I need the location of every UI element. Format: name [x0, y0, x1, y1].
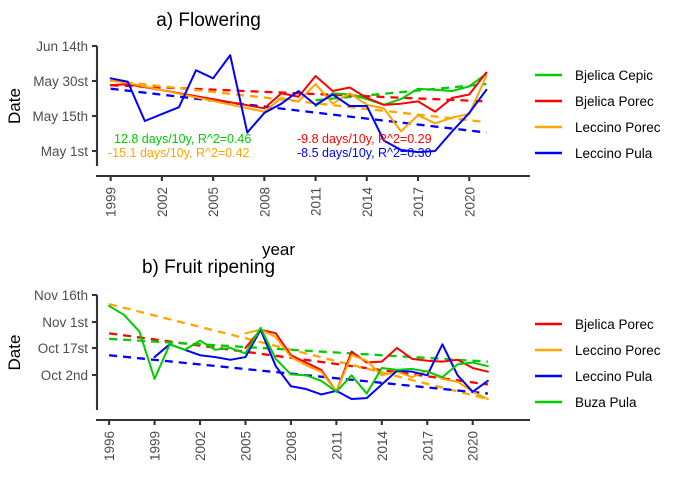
x-tick-label: 2005 [206, 187, 221, 217]
x-tick-label: 2020 [466, 431, 481, 461]
y-tick-label: May 1st [41, 144, 89, 159]
x-tick-label: 2017 [420, 431, 435, 461]
panel-title: a) Flowering [156, 10, 261, 31]
x-tick-label: 2020 [462, 187, 477, 217]
x-tick-label: 2011 [329, 431, 344, 460]
y-tick-label: Oct 2nd [41, 368, 88, 383]
y-tick-label: Nov 16th [34, 288, 88, 303]
legend-label-leccino-porec: Leccino Porec [575, 120, 661, 135]
x-tick-label: 2008 [284, 431, 299, 461]
chart-panel-fruit-ripening: b) Fruit ripeningOct 2ndOct 17stNov 1stN… [0, 247, 692, 487]
legend-label-leccino-pula: Leccino Pula [575, 369, 653, 384]
chart-svg-flowering: a) FloweringMay 1stMay 15thMay 30stJun 1… [0, 0, 692, 240]
x-tick-label: 1999 [148, 431, 163, 461]
y-tick-label: May 30st [33, 74, 88, 89]
data-line-leccino-pula [155, 330, 488, 399]
x-tick-label: 2002 [193, 431, 208, 461]
data-line-leccino-porec [111, 76, 487, 131]
chart-svg-fruit-ripening: b) Fruit ripeningOct 2ndOct 17stNov 1stN… [0, 247, 692, 487]
x-tick-label: 2005 [238, 431, 253, 461]
trend-annotation: 12.8 days/10y, R^2=0.46 [114, 132, 251, 146]
x-tick-label: 2002 [155, 187, 170, 217]
legend-label-buza-pula: Buza Pula [575, 395, 637, 410]
panel-title: b) Fruit ripening [142, 257, 275, 278]
y-tick-label: Oct 17st [38, 341, 89, 356]
x-tick-label: 2014 [375, 431, 390, 462]
x-tick-label: 2011 [309, 187, 324, 216]
legend-label-bjelica-cepic: Bjelica Cepic [575, 68, 653, 83]
chart-panel-flowering: a) FloweringMay 1stMay 15thMay 30stJun 1… [0, 0, 692, 240]
x-tick-label: 2008 [257, 187, 272, 217]
y-tick-label: Jun 14th [36, 39, 88, 54]
x-tick-label: 1996 [102, 431, 117, 461]
trend-annotation: -15.1 days/10y, R^2=0.42 [108, 146, 250, 160]
legend-label-bjelica-porec: Bjelica Porec [575, 94, 654, 109]
y-tick-label: Nov 1st [42, 315, 88, 330]
x-tick-label: 2014 [360, 187, 375, 218]
figure-root: a) FloweringMay 1stMay 15thMay 30stJun 1… [0, 0, 692, 487]
y-axis-title: Date [5, 88, 24, 124]
legend-label-leccino-porec: Leccino Porec [575, 343, 661, 358]
trend-annotation: -9.8 days/10y, R^2=0.29 [297, 132, 432, 146]
y-axis-title: Date [5, 335, 24, 371]
trend-annotation: -8.5 days/10y, R^2=0.30 [297, 146, 432, 160]
x-tick-label: 1999 [104, 187, 119, 217]
y-tick-label: May 15th [32, 109, 88, 124]
legend-label-bjelica-porec: Bjelica Porec [575, 317, 654, 332]
legend-label-leccino-pula: Leccino Pula [575, 146, 653, 161]
x-tick-label: 2017 [411, 187, 426, 217]
